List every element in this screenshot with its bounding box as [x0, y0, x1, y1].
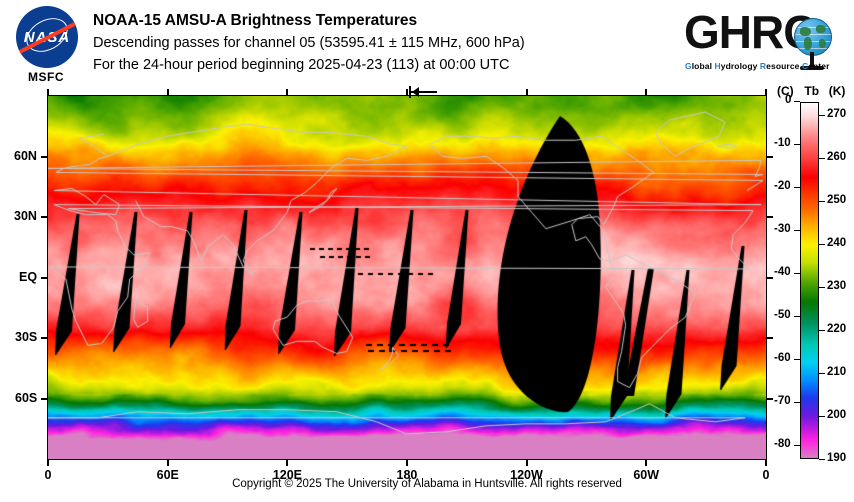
colorbar-tick-celsius — [794, 230, 800, 231]
colorbar-gradient — [800, 102, 819, 459]
colorbar-quantity-label: Tb — [804, 84, 819, 98]
lat-tick — [767, 216, 773, 218]
mouse-cursor-artifact — [409, 86, 437, 98]
colorbar-label-celsius: -80 — [774, 438, 791, 450]
lon-tick — [526, 89, 528, 95]
page-title: NOAA-15 AMSU-A Brightness Temperatures — [93, 10, 673, 32]
lat-tick-label: 30S — [15, 330, 37, 344]
title-block: NOAA-15 AMSU-A Brightness Temperatures D… — [93, 10, 673, 76]
colorbar-unit-kelvin: (K) — [829, 84, 846, 98]
lon-tick — [645, 89, 647, 95]
nasa-center-label: MSFC — [10, 70, 82, 84]
colorbar-tick-kelvin — [819, 459, 825, 460]
lat-tick — [767, 337, 773, 339]
ghrc-tagline: Global Hydrology Resource Center — [685, 61, 829, 71]
page-subtitle-channel: Descending passes for channel 05 (53595.… — [93, 32, 673, 54]
colorbar-label-celsius: -20 — [774, 180, 791, 192]
lon-tick — [286, 460, 288, 466]
lat-tick — [41, 398, 47, 400]
lon-tick — [645, 460, 647, 466]
colorbar-label-celsius: 0 — [785, 94, 791, 106]
colorbar-label-kelvin: 250 — [827, 194, 846, 206]
colorbar-label-celsius: -50 — [774, 309, 791, 321]
lon-tick — [286, 89, 288, 95]
colorbar-tick-celsius — [794, 101, 800, 102]
colorbar-label-kelvin: 260 — [827, 151, 846, 163]
colorbar-tick-celsius — [794, 273, 800, 274]
colorbar-tick-kelvin — [819, 373, 825, 374]
lat-tick-label: 60S — [15, 391, 37, 405]
colorbar-label-kelvin: 240 — [827, 237, 846, 249]
colorbar-tick-celsius — [794, 359, 800, 360]
lon-tick — [47, 89, 49, 95]
colorbar-label-celsius: -10 — [774, 137, 791, 149]
nasa-meatball-icon: NASA — [16, 6, 78, 68]
ghrc-globe-icon — [794, 18, 832, 56]
lon-tick — [47, 460, 49, 466]
colorbar-label-kelvin: 220 — [827, 323, 846, 335]
colorbar-tick-celsius — [794, 187, 800, 188]
copyright-notice: Copyright © 2025 The University of Alaba… — [0, 478, 854, 490]
colorbar-tick-celsius — [794, 402, 800, 403]
lon-tick — [765, 89, 767, 95]
colorbar-tick-kelvin — [819, 330, 825, 331]
lon-tick — [167, 89, 169, 95]
lat-tick-label: 60N — [14, 149, 37, 163]
lat-tick — [41, 156, 47, 158]
map-plot-area — [47, 95, 767, 460]
colorbar-tick-kelvin — [819, 158, 825, 159]
colorbar-label-kelvin: 190 — [827, 452, 846, 464]
colorbar-label-celsius: -30 — [774, 223, 791, 235]
page-subtitle-period: For the 24-hour period beginning 2025-04… — [93, 54, 673, 76]
colorbar-tick-kelvin — [819, 244, 825, 245]
lon-tick — [406, 89, 408, 95]
colorbar-label-celsius: -70 — [774, 395, 791, 407]
lat-tick-label: 30N — [14, 209, 37, 223]
lat-tick — [767, 398, 773, 400]
lon-tick — [167, 460, 169, 466]
colorbar-label-kelvin: 270 — [827, 108, 846, 120]
lat-tick-label: EQ — [19, 270, 37, 284]
colorbar-label-kelvin: 200 — [827, 409, 846, 421]
colorbar-label-kelvin: 230 — [827, 280, 846, 292]
colorbar-tick-celsius — [794, 445, 800, 446]
lon-tick — [765, 460, 767, 466]
brightness-temperature-heatmap — [48, 96, 766, 459]
colorbar-label-celsius: -60 — [774, 352, 791, 364]
colorbar-label-kelvin: 210 — [827, 366, 846, 378]
colorbar-tick-celsius — [794, 144, 800, 145]
colorbar-tick-kelvin — [819, 416, 825, 417]
colorbar-tick-celsius — [794, 316, 800, 317]
lat-tick — [767, 277, 773, 279]
lat-tick — [41, 216, 47, 218]
colorbar-tick-kelvin — [819, 201, 825, 202]
nasa-msfc-logo: NASA MSFC — [10, 6, 82, 90]
lat-tick — [41, 277, 47, 279]
colorbar-tick-kelvin — [819, 287, 825, 288]
colorbar-tick-kelvin — [819, 115, 825, 116]
header: NASA MSFC NOAA-15 AMSU-A Brightness Temp… — [0, 0, 854, 92]
lon-tick — [526, 460, 528, 466]
colorbar-label-celsius: -40 — [774, 266, 791, 278]
ghrc-logo: GHRC Global Hydrology Resource Center — [684, 8, 844, 82]
lon-tick — [406, 460, 408, 466]
lat-tick — [767, 156, 773, 158]
lat-tick — [41, 337, 47, 339]
